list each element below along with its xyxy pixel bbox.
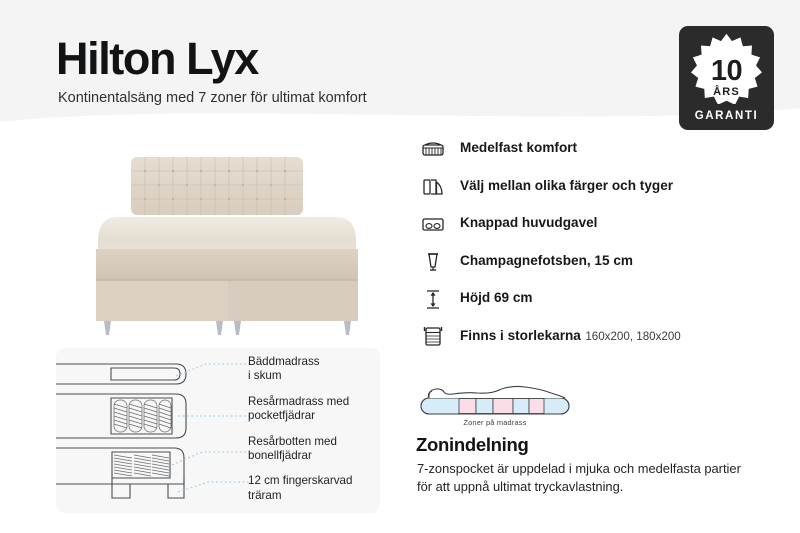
feature-label: Champagnefotsben, 15 cm <box>460 253 633 268</box>
layer-label-list: Bäddmadrass i skum Resårmadrass med pock… <box>248 355 383 514</box>
badge-label: GARANTI <box>679 110 774 122</box>
layer-label-line2: pocketfjädrar <box>248 409 315 422</box>
feature-row-fabric: Välj mellan olika färger och tyger <box>420 176 760 198</box>
layer-label-line1: Resårbotten med <box>248 435 337 448</box>
height-arrow-icon <box>420 288 446 310</box>
layer-label: Resårmadrass med pocketfjädrar <box>248 395 383 424</box>
layer-label-line2: träram <box>248 489 282 502</box>
feature-row-headboard: Knappad huvudgavel <box>420 213 760 235</box>
layer-label-line2: i skum <box>248 369 282 382</box>
feature-list: Medelfast komfort Välj mellan olika färg… <box>420 138 760 363</box>
tufted-headboard-icon <box>420 213 446 235</box>
mattress-firmness-icon <box>420 138 446 160</box>
feature-row-sizes: Finns i storlekarna 160x200, 180x200 <box>420 326 760 348</box>
layer-label: Resårbotten med bonellfjädrar <box>248 435 383 464</box>
mattress-cross-section-diagram <box>56 352 256 515</box>
zone-caption: Zoner på madrass <box>415 418 575 427</box>
badge-period: ÅRS <box>679 86 774 98</box>
layer-label: Bäddmadrass i skum <box>248 355 383 384</box>
layer-label-line1: Resårmadrass med <box>248 395 349 408</box>
zone-title: Zonindelning <box>416 434 529 456</box>
bed-size-icon <box>420 326 446 348</box>
layer-label-line2: bonellfjädrar <box>248 449 312 462</box>
feature-row-height: Höjd 69 cm <box>420 288 760 310</box>
layer-label-line1: 12 cm fingerskarvad <box>248 474 352 487</box>
zone-body-text: 7-zonspocket är uppdelad i mjuka och med… <box>417 460 747 496</box>
product-image <box>74 137 384 337</box>
page-subtitle: Kontinentalsäng med 7 zoner för ultimat … <box>58 89 367 107</box>
layer-label: 12 cm fingerskarvad träram <box>248 474 383 503</box>
infographic-page: Hilton Lyx Kontinentalsäng med 7 zoner f… <box>0 0 800 533</box>
feature-label: Höjd 69 cm <box>460 290 533 305</box>
fabric-swatch-icon <box>420 176 446 198</box>
badge-number: 10 <box>679 55 774 88</box>
feature-sublabel: 160x200, 180x200 <box>585 330 680 343</box>
page-title: Hilton Lyx <box>56 33 258 85</box>
bed-leg-icon <box>420 251 446 273</box>
feature-label: Medelfast komfort <box>460 140 577 155</box>
feature-label: Knappad huvudgavel <box>460 215 597 230</box>
feature-label: Finns i storlekarna <box>460 328 581 343</box>
layer-label-line1: Bäddmadrass <box>248 355 320 368</box>
feature-label: Välj mellan olika färger och tyger <box>460 178 673 193</box>
feature-row-comfort: Medelfast komfort <box>420 138 760 160</box>
feature-row-legs: Champagnefotsben, 15 cm <box>420 251 760 273</box>
guarantee-badge: 10 ÅRS GARANTI <box>679 26 774 130</box>
